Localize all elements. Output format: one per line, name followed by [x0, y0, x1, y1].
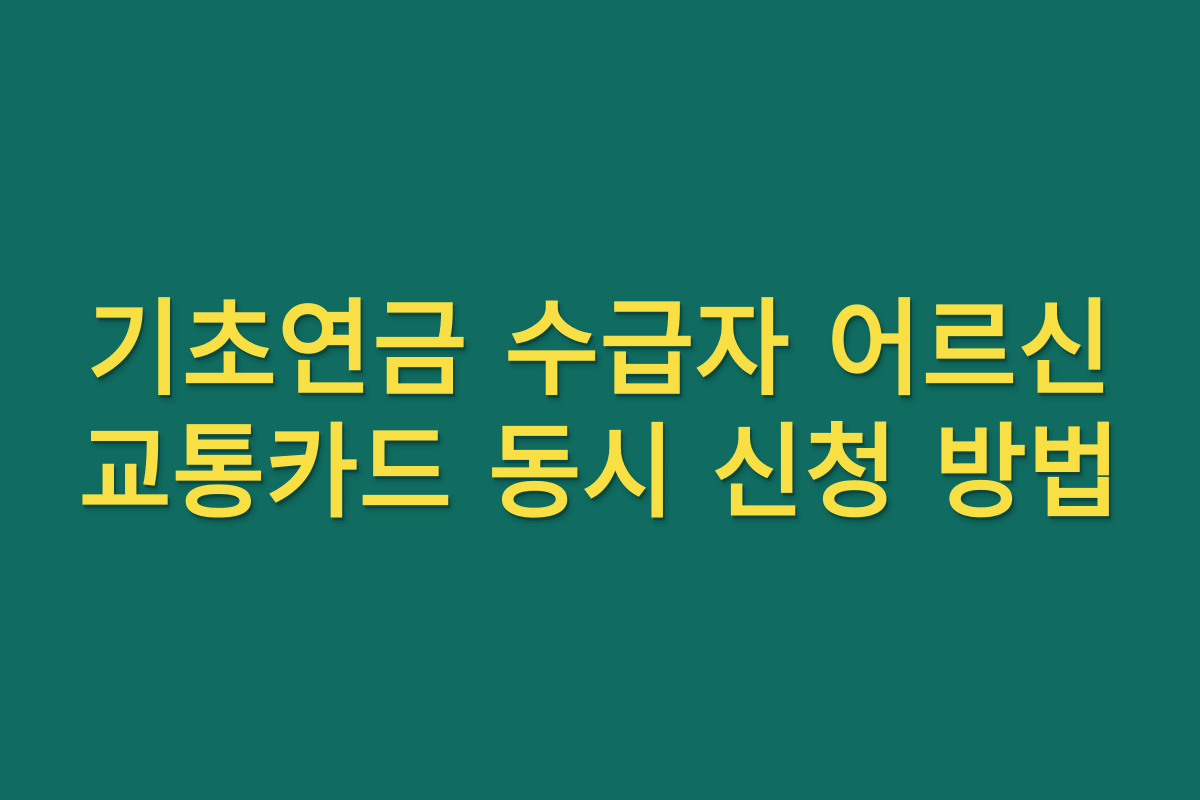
- thumbnail-banner: 기초연금 수급자 어르신 교통카드 동시 신청 방법: [0, 0, 1200, 800]
- title-line-1: 기초연금 수급자 어르신: [78, 287, 1122, 411]
- page-title: 기초연금 수급자 어르신 교통카드 동시 신청 방법: [70, 287, 1130, 534]
- title-line-2: 교통카드 동시 신청 방법: [78, 413, 1122, 534]
